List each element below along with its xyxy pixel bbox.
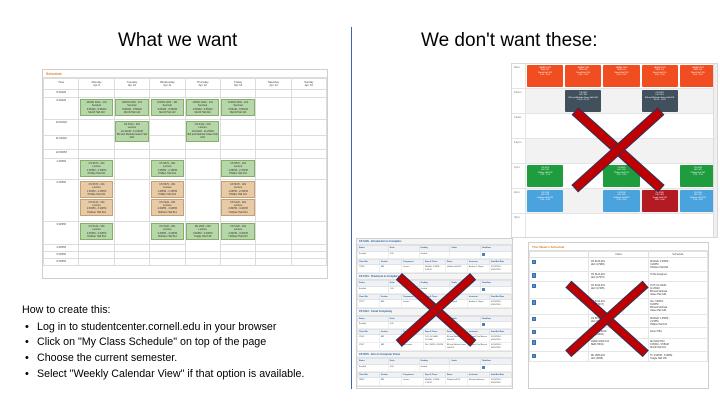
heading-what-we-want: What we want — [118, 30, 237, 52]
course-section-table: Class Nbr Section Component Days & Times… — [357, 329, 512, 351]
cell-icon[interactable] — [530, 271, 589, 281]
cell-class: CS 5670-001LEC (18039) — [589, 315, 648, 328]
event-cs5120-tan-mon: CS 5120 - 001 Lecture 2:30PM - 3:20PM Ho… — [80, 199, 113, 216]
cell-instructor: Kenneth Paul Birman — [468, 335, 490, 343]
cell-tue-1800 — [114, 259, 149, 266]
cell-dates: 01/24/2018 - 05/09/2018 — [490, 300, 512, 308]
cell-nbr: 17437 — [358, 343, 380, 351]
cell-sat-1400 — [256, 180, 291, 222]
cell-mon-1800 — [79, 259, 114, 266]
cell-section[interactable]: 001 — [380, 378, 402, 386]
cell-days: TuTh 10:10AM - 11:25AM — [424, 335, 446, 343]
cell-section[interactable]: 001 — [380, 265, 402, 273]
cal-slot-tue-10: CS 5412 LEC 001 Bill and Melinda Gates H… — [564, 89, 602, 113]
deadline-icon — [482, 288, 485, 291]
cell-tue-1200 — [114, 150, 149, 159]
cell-nbr: 17973 — [358, 300, 380, 308]
event-cs5412-thu: CS 5412 - 001 Lecture 10:10AM - 11:25AM … — [186, 121, 219, 142]
schedule-header-row: Time MondayApr 9 TuesdayApr 10 Wednesday… — [44, 79, 327, 90]
cell-mon-1500: CS 5120 - 001 Lecture 2:30PM - 3:20PM Ho… — [79, 222, 114, 245]
cell-tue-1500 — [114, 222, 149, 245]
cal-slot-mon-2: CS 5120 LEC 001 Hollister Hall 814 2:30 … — [526, 189, 564, 213]
cal-event-cs5120-mon: CS 5120 LEC 001 Hollister Hall 814 2:30 … — [527, 190, 563, 212]
cell-tue-1000: CS 5412 - 001 Lecture 10:10AM - 11:25AM … — [114, 120, 149, 150]
event-japan-wed: JAPAN 2202 - 101 Seminar 9:05AM - 9:55AM… — [151, 99, 184, 116]
cell-class: CS 5999-601CIND (11904) — [589, 328, 648, 338]
schedule-row-0900: 9:00AM JAPAN 2202 - 101 Seminar 9:05AM -… — [44, 98, 327, 120]
cell-component: Lecture — [402, 378, 424, 386]
cell-wed-1700 — [150, 252, 185, 259]
cell-thu-1800 — [185, 259, 220, 266]
class-detail-icon — [532, 340, 536, 345]
cal-slot-fri-3 — [679, 214, 717, 238]
time-label: 8:00AM — [44, 90, 79, 98]
cell-thu-1300 — [185, 159, 220, 180]
course-block: CS 5120 - Introduction to Compilers Stat… — [357, 239, 512, 274]
cell-wed-1100 — [150, 136, 185, 150]
header-day-friday: FridayApr 13 — [220, 79, 255, 90]
cell-schedule: To Be Assigned — [648, 271, 707, 281]
cell-days — [424, 300, 446, 308]
cal-slot-mon-11 — [526, 114, 564, 138]
bad-enrollment-list: CS 5120 - Introduction to Compilers Stat… — [356, 238, 513, 389]
cell-sun-0800 — [291, 90, 326, 98]
course-section-table: Class Nbr Section Component Days & Times… — [357, 294, 512, 308]
good-weekly-schedule: Schedule Time MondayApr 9 TuesdayApr 10 … — [42, 69, 328, 279]
cal-slot-thu-3 — [641, 214, 679, 238]
cell-deadlines[interactable] — [481, 286, 512, 293]
course-status-table: Status Units Grading Grade Deadlines Enr… — [357, 358, 512, 372]
cal-row-11am: 11am — [512, 114, 717, 139]
week-table: Class Schedule CS 5120-001LEC (17968) Mo… — [529, 251, 708, 362]
cell-wed-1600 — [150, 245, 185, 252]
howto-steps-list: Log in to studentcenter.cornell.edu in y… — [22, 320, 347, 383]
cell-room: Unassigned — [446, 300, 468, 308]
cell-grade — [450, 286, 481, 293]
cell-thu-1700 — [185, 252, 220, 259]
cell-mon-1600 — [79, 245, 114, 252]
cell-units: 1.00 — [388, 286, 419, 293]
cal-row-3pm: 3pm — [512, 214, 717, 238]
cal-event-japan-tue: JAPAN 2202 SEM 101 Morrill Hall 110 9:05… — [565, 65, 601, 87]
cell-class: CS 5121-001LEC (17973) — [589, 271, 648, 281]
header-day-sunday: SundayApr 15 — [291, 79, 326, 90]
cal-event-cs5120-wed: CS 5120 LEC 001 Hollister Hall 814 2:30 … — [603, 190, 639, 212]
event-pe1505-thu: PE 1505 - 003 Lecture 3:00PM - 6:00PM Te… — [186, 223, 219, 240]
event-cs5670-wed: CS 5670 - 001 Lecture 1:25PM - 2:15PM Ph… — [151, 160, 184, 177]
table-row: CS 5670-001LEC (18039) MoWeFr 1:25PM -2:… — [530, 315, 708, 328]
cell-dates: 01/24/2018 - 05/09/2018 — [490, 265, 512, 273]
cal-slot-fri-2: CS 5120 LEC 001 Hollister Hall 814 2:30 … — [679, 189, 717, 213]
cell-units: 3.00 — [388, 251, 419, 258]
cal-time-label: 12pm — [512, 139, 526, 163]
cell-mon-1300: CS 5670 - 001 Lecture 1:25PM - 2:15PM Ph… — [79, 159, 114, 180]
cell-tue-0900: JAPAN 2202 - 101 Seminar 9:05AM - 9:55AM… — [114, 98, 149, 120]
cal-slot-tue-2 — [564, 189, 602, 213]
table-row: JAPAN 2202-101SEM (5634) MoTuWeThFr9:05A… — [530, 338, 708, 351]
cell-instructor: Kenneth Paul Birman — [468, 343, 490, 351]
cal-slot-thu-12 — [641, 139, 679, 163]
cell-thu-1400 — [185, 180, 220, 222]
cal-event-cs5670-mon: CS 5670 LEC 001 Phillips Hall 101 1:25 -… — [527, 165, 563, 187]
class-detail-icon — [532, 300, 536, 305]
cal-time-label: 3pm — [512, 214, 526, 238]
cell-units: 4.00 — [388, 321, 419, 328]
cell-sun-1700 — [291, 252, 326, 259]
class-detail-icon — [532, 273, 536, 278]
table-row: CS 5412-001LEC (17405) TuTh 10:10AM -11:… — [530, 282, 708, 299]
schedule-table: Time MondayApr 9 TuesdayApr 10 Wednesday… — [43, 78, 327, 266]
cell-fri-1500: CS 5120 - 001 Lecture 2:30PM - 3:20PM Ho… — [220, 222, 255, 245]
class-detail-icon — [532, 317, 536, 322]
schedule-row-1800: 6:00PM — [44, 259, 327, 266]
cal-time-label: 11am — [512, 114, 526, 138]
cal-slot-tue-12 — [564, 139, 602, 163]
cell-status: Enrolled — [358, 286, 389, 293]
cell-grading: Graded — [419, 286, 450, 293]
bad-calendar-view: 9am JAPAN 2202 SEM 101 Morrill Hall 110 … — [511, 63, 718, 238]
deadline-icon — [482, 323, 485, 326]
cell-sat-1100 — [256, 136, 291, 150]
cell-mon-0800 — [79, 90, 114, 98]
cell-schedule: MoWeFr 2:30PM -3:20PMHollister Hall 814 — [648, 258, 707, 271]
this-weeks-schedule-panel: This Week's Schedule Class Schedule CS 5… — [528, 242, 709, 389]
vertical-divider — [351, 27, 352, 389]
event-cs5670-tan-fri: CS 5670 - 001 Lecture 1:25PM - 2:15PM Ph… — [221, 181, 254, 198]
cell-icon[interactable] — [530, 315, 589, 328]
cell-deadlines[interactable] — [481, 321, 512, 328]
slide-root: What we want We don't want these: Schedu… — [0, 0, 720, 405]
cell-icon[interactable] — [530, 352, 589, 362]
cell-mon-1200 — [79, 150, 114, 159]
cell-thu-1000: CS 5412 - 001 Lecture 10:10AM - 11:25AM … — [185, 120, 220, 150]
course-status-table: Status Units Grading Grade Deadlines Enr… — [357, 280, 512, 294]
cell-sun-1400 — [291, 180, 326, 222]
cell-instructor: Andrew C. Myers — [468, 265, 490, 273]
cell-status: Enrolled — [358, 321, 389, 328]
cell-component: Lecture — [402, 300, 424, 308]
cell-tue-1600 — [114, 245, 149, 252]
cell-icon[interactable] — [530, 328, 589, 338]
time-label: 6:00PM — [44, 259, 79, 266]
schedule-row-1500: 3:00PM CS 5120 - 001 Lecture 2:30PM - 3:… — [44, 222, 327, 245]
cal-event-japan-thu: JAPAN 2202 SEM 101 Morrill Hall 110 9:05… — [642, 65, 678, 87]
cell-nbr: 17968 — [358, 265, 380, 273]
cal-row-10am: 10am CS 5412 LEC 001 Bill and Melinda Ga… — [512, 89, 717, 114]
cell-sun-1600 — [291, 245, 326, 252]
cell-fri-1300: CS 5670 - 001 Lecture 1:25PM - 2:15PM Ph… — [220, 159, 255, 180]
course-status-table: Status Units Grading Grade Deadlines Enr… — [357, 245, 512, 259]
time-label: 3:00PM — [44, 222, 79, 245]
cell-component: Lecture — [402, 335, 424, 343]
cell-icon[interactable] — [530, 258, 589, 271]
cal-slot-fri-9: JAPAN 2202 SEM 101 Morrill Hall 110 9:05… — [679, 64, 717, 88]
cell-wed-0900: JAPAN 2202 - 101 Seminar 9:05AM - 9:55AM… — [150, 98, 185, 120]
event-cs5120-tan-wed: CS 5120 - 001 Lecture 2:30PM - 3:20PM Ho… — [151, 199, 184, 216]
cal-event-cs5412-tue: CS 5412 LEC 001 Bill and Melinda Gates H… — [565, 90, 601, 112]
cell-schedule: We 7:30PM -8:20PMBill and MelindaGates H… — [648, 298, 707, 315]
cal-slot-wed-11 — [602, 114, 640, 138]
table-row: CS 5120-001LEC (17968) MoWeFr 2:30PM -3:… — [530, 258, 708, 271]
cell-schedule: MoWeFr 1:25PM -2:15PMPhillips Hall 101 — [648, 315, 707, 328]
cell-sun-1100 — [291, 136, 326, 150]
schedule-row-1700: 5:00PM — [44, 252, 327, 259]
cell-fri-1200 — [220, 150, 255, 159]
time-label: 12:00PM — [44, 150, 79, 159]
event-cs5120-tan-fri: CS 5120 - 001 Lecture 2:30PM - 3:20PM Ho… — [221, 199, 254, 216]
cell-schedule: TuTh 10:10AM -11:25AMBill and MelindaGat… — [648, 282, 707, 299]
cal-row-1pm: 1pm CS 5670 LEC 001 Phillips Hall 101 1:… — [512, 164, 717, 189]
howto-step: Click on "My Class Schedule" on top of t… — [22, 335, 347, 351]
schedule-title: Schedule — [43, 70, 327, 78]
cell-schedule: Room TBA — [648, 328, 707, 338]
schedule-row-1200: 12:00PM — [44, 150, 327, 159]
cell-room: Hollister Hall 814 — [446, 265, 468, 273]
cell-grading: Graded — [419, 321, 450, 328]
table-row: 17968 001 Lecture MoWeFr 2:30PM - 3:20PM… — [358, 265, 512, 273]
schedule-row-1000: 10:00AM CS 5412 - 001 Lecture 10:10AM - … — [44, 120, 327, 136]
cal-slot-wed-9: JAPAN 2202 SEM 101 Morrill Hall 110 9:05… — [602, 64, 640, 88]
cal-slot-mon-3 — [526, 214, 564, 238]
schedule-row-1300: 1:00PM CS 5670 - 001 Lecture 1:25PM - 2:… — [44, 159, 327, 180]
cell-sun-1300 — [291, 159, 326, 180]
event-japan-thu: JAPAN 2202 - 101 Seminar 9:05AM - 9:55AM… — [186, 99, 219, 116]
cell-section[interactable]: 001 — [380, 300, 402, 308]
event-cs5670-tan-wed: CS 5670 - 001 Lecture 1:25PM - 2:15PM Ph… — [151, 181, 184, 198]
cell-tue-0800 — [114, 90, 149, 98]
cell-sun-1200 — [291, 150, 326, 159]
cal-event-japan-fri: JAPAN 2202 SEM 101 Morrill Hall 110 9:05… — [680, 65, 716, 87]
header-day-thursday: ThursdayApr 12 — [185, 79, 220, 90]
table-row: 17973 001 Lecture Unassigned Andrew C. M… — [358, 300, 512, 308]
howto-lead: How to create this: — [22, 303, 347, 319]
table-row: 17437 201 Discussion We 7:30PM - 8:20PM … — [358, 343, 512, 351]
event-cs5120-wed: CS 5120 - 001 Lecture 2:30PM - 3:20PM Ho… — [151, 223, 184, 240]
time-label: 1:00PM — [44, 159, 79, 180]
cell-component: Discussion — [402, 343, 424, 351]
howto-step: Choose the current semester. — [22, 351, 347, 367]
heading-we-dont-want: We don't want these: — [421, 30, 598, 52]
cell-dates: 01/24/2018 - 05/09/2018 — [490, 343, 512, 351]
cell-sat-1200 — [256, 150, 291, 159]
cell-room: Bill and Melinda Gates Hall G01 — [446, 335, 468, 343]
header-day-saturday: SaturdayApr 14 — [256, 79, 291, 90]
class-detail-icon — [532, 260, 536, 265]
table-row: CS 5121-001LEC (17973) To Be Assigned — [530, 271, 708, 281]
time-label: 4:00PM — [44, 245, 79, 252]
cell-fri-1100 — [220, 136, 255, 150]
cell-sun-1000 — [291, 120, 326, 136]
cell-thu-1500: PE 1505 - 003 Lecture 3:00PM - 6:00PM Te… — [185, 222, 220, 252]
cal-time-label: 1pm — [512, 164, 526, 188]
cal-event-cs5670-wed: CS 5670 LEC 001 Phillips Hall 101 1:25 -… — [603, 165, 639, 187]
time-label: 10:00AM — [44, 120, 79, 136]
cal-event-japan-mon: JAPAN 2202 SEM 101 Morrill Hall 110 9:05… — [527, 65, 563, 87]
how-to-create-instructions: How to create this: Log in to studentcen… — [22, 303, 347, 383]
cell-tue-1400 — [114, 180, 149, 222]
cal-time-label: 10am — [512, 89, 526, 113]
cal-event-japan-wed: JAPAN 2202 SEM 101 Morrill Hall 110 9:05… — [603, 65, 639, 87]
cell-schedule: MoTuWeThFr9:05AM - 9:55AMMorrill Hall 11… — [648, 338, 707, 351]
cal-slot-fri-1: CS 5670 LEC 001 Phillips Hall 101 1:25 -… — [679, 164, 717, 188]
table-row: PE 1505-003LEC (9929) Th 3:00PM - 6:00PM… — [530, 352, 708, 362]
cell-mon-1700 — [79, 252, 114, 259]
header-day-tuesday: TuesdayApr 10 — [114, 79, 149, 90]
time-label: 5:00PM — [44, 252, 79, 259]
cal-slot-fri-12 — [679, 139, 717, 163]
event-cs5670-mon: CS 5670 - 001 Lecture 1:25PM - 2:15PM Ph… — [80, 160, 113, 177]
cell-nbr: 18039 — [358, 378, 380, 386]
cell-grading: Graded — [419, 251, 450, 258]
week-panel-title: This Week's Schedule — [529, 243, 708, 251]
cal-slot-thu-10: CS 5412 LEC 001 Bill and Melinda Gates H… — [641, 89, 679, 113]
cal-slot-thu-2: PE 1505 LEC 003 Teagle Hall 136 3:00 - 6… — [641, 189, 679, 213]
deadline-icon — [482, 253, 485, 256]
cell-instructor: Andrew C. Myers — [468, 300, 490, 308]
cal-slot-mon-9: JAPAN 2202 SEM 101 Morrill Hall 110 9:05… — [526, 64, 564, 88]
howto-step: Log in to studentcenter.cornell.edu in y… — [22, 320, 347, 336]
cal-event-cs5120-fri: CS 5120 LEC 001 Hollister Hall 814 2:30 … — [680, 190, 716, 212]
cal-slot-mon-1: CS 5670 LEC 001 Phillips Hall 101 1:25 -… — [526, 164, 564, 188]
cell-nbr: 17405 — [358, 335, 380, 343]
cal-slot-fri-10 — [679, 89, 717, 113]
class-detail-icon — [532, 330, 536, 335]
cell-icon[interactable] — [530, 298, 589, 315]
cal-slot-wed-10 — [602, 89, 640, 113]
cell-mon-1100 — [79, 136, 114, 150]
table-row: 18039 001 Lecture MoWeFr 1:25PM - 2:15PM… — [358, 378, 512, 386]
cell-thu-1200 — [185, 150, 220, 159]
time-label: 2:00PM — [44, 180, 79, 222]
header-time: Time — [44, 79, 79, 90]
cell-sat-1600 — [256, 245, 291, 252]
cell-wed-1500: CS 5120 - 001 Lecture 2:30PM - 3:20PM Ho… — [150, 222, 185, 245]
cell-sat-1500 — [256, 222, 291, 245]
cell-class: CS 5412-001LEC (17405) — [589, 282, 648, 299]
cell-dates: 01/24/2018 - 05/09/2018 — [490, 378, 512, 386]
event-cs5412-tue: CS 5412 - 001 Lecture 10:10AM - 11:25AM … — [115, 121, 148, 142]
course-block: CS 5412 - Cloud Computing Status Units G… — [357, 309, 512, 352]
cell-mon-0900: JAPAN 2202 - 101 Seminar 9:05AM - 9:55AM… — [79, 98, 114, 120]
table-row: CS 5999-601CIND (11904) Room TBA — [530, 328, 708, 338]
cell-sat-0900 — [256, 98, 291, 120]
cell-fri-1000 — [220, 120, 255, 136]
cal-slot-tue-3 — [564, 214, 602, 238]
cell-class: PE 1505-003LEC (9929) — [589, 352, 648, 362]
cell-sat-0800 — [256, 90, 291, 98]
cell-room: Bill and Melinda Gates Hall G01 — [446, 343, 468, 351]
cell-icon[interactable] — [530, 338, 589, 351]
cell-room: Phillips Hall 101 — [446, 378, 468, 386]
table-row: CS 5412-201DIS (17437) We 7:30PM -8:20PM… — [530, 298, 708, 315]
cell-status: Enrolled — [358, 251, 389, 258]
cell-dates: 01/24/2018 - 05/09/2018 — [490, 335, 512, 343]
cal-slot-mon-10 — [526, 89, 564, 113]
cell-sat-1000 — [256, 120, 291, 136]
calendar-scrollbar[interactable] — [713, 64, 717, 237]
event-cs5670-tan-mon: CS 5670 - 001 Lecture 1:25PM - 2:15PM Ph… — [80, 181, 113, 198]
cell-grade — [450, 321, 481, 328]
cell-sat-1800 — [256, 259, 291, 266]
cal-slot-wed-12 — [602, 139, 640, 163]
cell-tue-1300 — [114, 159, 149, 180]
cell-wed-1200 — [150, 150, 185, 159]
cell-mon-1400: CS 5670 - 001 Lecture 1:25PM - 2:15PM Ph… — [79, 180, 114, 222]
cell-section[interactable]: 001 — [380, 335, 402, 343]
event-cs5120-mon: CS 5120 - 001 Lecture 2:30PM - 3:20PM Ho… — [80, 223, 113, 240]
cell-class: JAPAN 2202-101SEM (5634) — [589, 338, 648, 351]
cal-event-cs5670-fri: CS 5670 LEC 001 Phillips Hall 101 1:25 -… — [680, 165, 716, 187]
cal-time-label: 2pm — [512, 189, 526, 213]
cell-fri-1600 — [220, 245, 255, 252]
cell-sat-1700 — [256, 252, 291, 259]
cal-event-pe1505-thu: PE 1505 LEC 003 Teagle Hall 136 3:00 - 6… — [642, 190, 678, 212]
cell-class: CS 5120-001LEC (17968) — [589, 258, 648, 271]
header-day-monday: MondayApr 9 — [79, 79, 114, 90]
cal-slot-wed-1: CS 5670 LEC 001 Phillips Hall 101 1:25 -… — [602, 164, 640, 188]
cal-slot-fri-11 — [679, 114, 717, 138]
cell-thu-0900: JAPAN 2202 - 101 Seminar 9:05AM - 9:55AM… — [185, 98, 220, 120]
header-day-wednesday: WednesdayApr 11 — [150, 79, 185, 90]
cal-slot-tue-11 — [564, 114, 602, 138]
cal-row-9am: 9am JAPAN 2202 SEM 101 Morrill Hall 110 … — [512, 64, 717, 89]
cell-fri-0800 — [220, 90, 255, 98]
cell-deadlines[interactable] — [481, 364, 512, 371]
cell-component: Lecture — [402, 265, 424, 273]
course-block: CS 5121 - Practicum in Compilers Status … — [357, 274, 512, 309]
cell-icon[interactable] — [530, 282, 589, 299]
table-row: 17405 001 Lecture TuTh 10:10AM - 11:25AM… — [358, 335, 512, 343]
class-detail-icon — [532, 354, 536, 359]
cell-deadlines[interactable] — [481, 251, 512, 258]
cal-slot-wed-3 — [602, 214, 640, 238]
cell-sun-1800 — [291, 259, 326, 266]
cal-slot-thu-1 — [641, 164, 679, 188]
cell-wed-0800 — [150, 90, 185, 98]
event-cs5120-fri: CS 5120 - 001 Lecture 2:30PM - 3:20PM Ho… — [221, 223, 254, 240]
schedule-row-0800: 8:00AM — [44, 90, 327, 98]
howto-step: Select "Weekly Calendar View" if that op… — [22, 367, 347, 383]
cell-units: 4.00 — [388, 364, 419, 371]
class-detail-icon — [532, 284, 536, 289]
cell-class: CS 5412-201DIS (17437) — [589, 298, 648, 315]
cell-wed-1000 — [150, 120, 185, 136]
cell-sun-0900 — [291, 98, 326, 120]
cell-sat-1300 — [256, 159, 291, 180]
cell-days: MoWeFr 1:25PM - 2:15PM — [424, 378, 446, 386]
cal-event-cs5412-thu: CS 5412 LEC 001 Bill and Melinda Gates H… — [642, 90, 678, 112]
cell-sun-1500 — [291, 222, 326, 245]
cell-fri-1700 — [220, 252, 255, 259]
cell-schedule: Th 3:00PM - 6:00PMTeagle Hall 136 — [648, 352, 707, 362]
cell-section[interactable]: 201 — [380, 343, 402, 351]
time-label: 9:00AM — [44, 98, 79, 120]
cell-thu-0800 — [185, 90, 220, 98]
cell-grade — [450, 364, 481, 371]
cell-status: Enrolled — [358, 364, 389, 371]
cell-grade — [450, 251, 481, 258]
cell-mon-1000 — [79, 120, 114, 136]
cal-slot-tue-9: JAPAN 2202 SEM 101 Morrill Hall 110 9:05… — [564, 64, 602, 88]
cal-slot-tue-1 — [564, 164, 602, 188]
cell-wed-1800 — [150, 259, 185, 266]
cell-fri-0900: JAPAN 2202 - 101 Seminar 9:05AM - 9:55AM… — [220, 98, 255, 120]
cell-tue-1700 — [114, 252, 149, 259]
schedule-row-1400: 2:00PM CS 5670 - 001 Lecture 1:25PM - 2:… — [44, 180, 327, 222]
cal-slot-thu-11 — [641, 114, 679, 138]
course-section-table: Class Nbr Section Component Days & Times… — [357, 259, 512, 273]
cal-slot-thu-9: JAPAN 2202 SEM 101 Morrill Hall 110 9:05… — [641, 64, 679, 88]
